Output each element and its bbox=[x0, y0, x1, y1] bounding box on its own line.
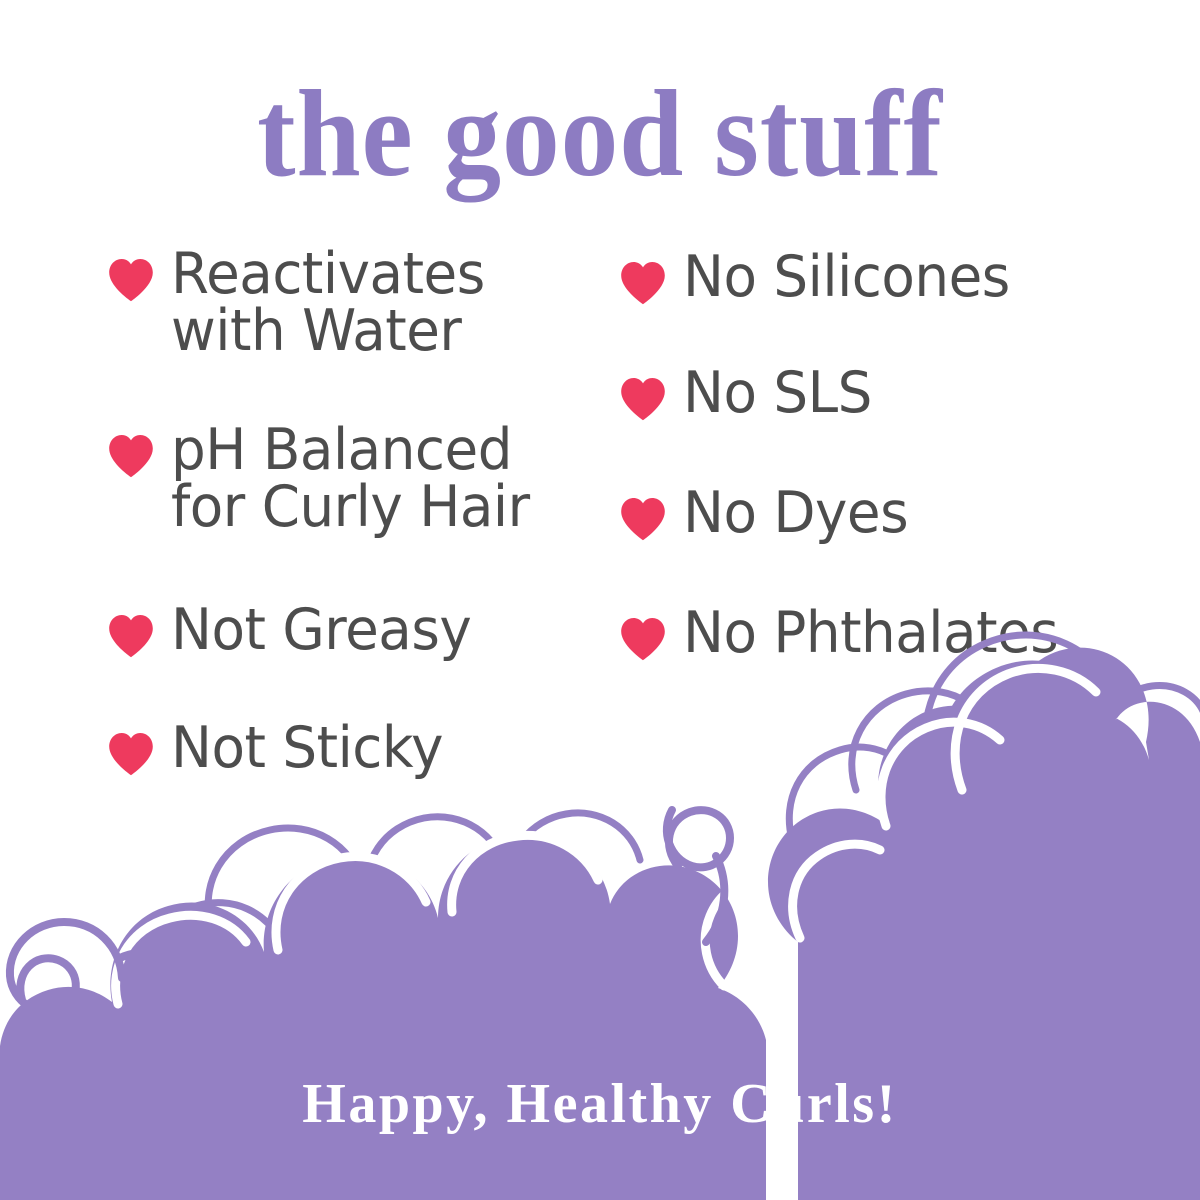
list-item-label: Not Greasy bbox=[171, 602, 471, 659]
list-item-label: Not Sticky bbox=[171, 720, 443, 777]
benefits-list: Reactivates with Water pH Balanced for C… bbox=[0, 246, 1200, 806]
list-item: No Silicones bbox=[620, 249, 1023, 306]
heart-icon bbox=[620, 617, 666, 661]
list-item: Not Greasy bbox=[108, 602, 484, 659]
footer-tagline: Happy, Healthy Curls! bbox=[0, 1072, 1200, 1136]
list-item: pH Balanced for Curly Hair bbox=[108, 422, 545, 536]
heart-icon bbox=[620, 261, 666, 305]
heart-icon bbox=[620, 377, 666, 421]
list-item-label: Reactivates with Water bbox=[171, 246, 485, 360]
list-item-label: No Silicones bbox=[683, 249, 1010, 306]
heart-icon bbox=[108, 258, 154, 302]
list-item: No Phthalates bbox=[620, 605, 1074, 662]
heart-icon bbox=[620, 497, 666, 541]
list-item: No Dyes bbox=[620, 485, 918, 542]
good-stuff-poster: the good stuff Reactivates with Water pH… bbox=[0, 0, 1200, 1200]
list-item: Reactivates with Water bbox=[108, 246, 498, 360]
heart-icon bbox=[108, 614, 154, 658]
page-title: the good stuff bbox=[42, 72, 1158, 196]
list-item-label: No Phthalates bbox=[683, 605, 1058, 662]
list-item-label: No Dyes bbox=[683, 485, 908, 542]
heart-icon bbox=[108, 434, 154, 478]
list-item-label: pH Balanced for Curly Hair bbox=[171, 422, 530, 536]
list-item: Not Sticky bbox=[108, 720, 454, 777]
cloud-shape-left bbox=[0, 810, 766, 1200]
list-item-label: No SLS bbox=[683, 365, 872, 422]
list-item: No SLS bbox=[620, 365, 880, 422]
heart-icon bbox=[108, 732, 154, 776]
